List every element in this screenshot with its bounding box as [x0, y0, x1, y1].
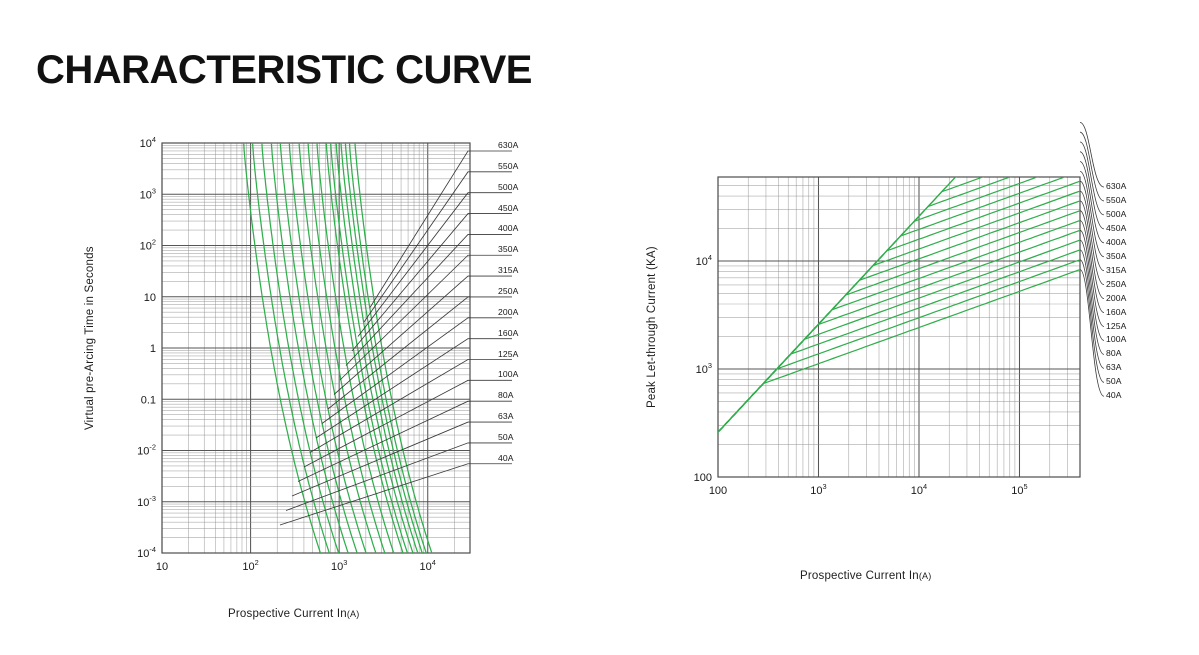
leader-line-500A [1080, 142, 1104, 215]
axis-tick-label: 100 [694, 472, 712, 484]
series-label-40A: 40A [498, 453, 514, 463]
series-label-450A: 450A [1106, 223, 1126, 233]
axis-tick-label: 0.1 [141, 394, 156, 406]
chart-peak-let-through: 104103100100103104105 Peak Let-through C… [600, 0, 1199, 655]
series-label-550A: 550A [498, 161, 518, 171]
series-label-450A: 450A [498, 203, 518, 213]
axis-tick-label: 103 [140, 186, 156, 201]
series-label-250A: 250A [498, 286, 518, 296]
series-label-400A: 400A [498, 223, 518, 233]
axis-tick-label: 105 [1011, 482, 1027, 497]
axis-tick-label: 104 [140, 135, 156, 150]
x-axis-title-right-text: Prospective Current In [800, 570, 919, 582]
series-label-500A: 500A [498, 182, 518, 192]
axis-tick-label: 104 [911, 482, 927, 497]
leader-line-550A [1080, 132, 1104, 201]
axis-tick-label: 10 [144, 292, 156, 304]
x-axis-unit-left: (A) [347, 609, 360, 619]
series-label-630A: 630A [498, 140, 518, 150]
axis-tick-label: 10-3 [137, 494, 156, 509]
series-label-160A: 160A [498, 328, 518, 338]
y-axis-title-left: Virtual pre-Arcing Time in Seconds [84, 246, 96, 430]
x-axis-title-left-text: Prospective Current In [228, 608, 347, 620]
leader-line-500A [358, 193, 512, 337]
series-label-630A: 630A [1106, 181, 1126, 191]
series-label-125A: 125A [1106, 321, 1126, 331]
series-label-550A: 550A [1106, 195, 1126, 205]
curve-160A [718, 211, 1080, 433]
curve-125A [718, 221, 1080, 433]
y-axis-title-right: Peak Let-through Current (KA) [646, 246, 658, 408]
series-label-160A: 160A [1106, 307, 1126, 317]
series-label-40A: 40A [1106, 390, 1122, 400]
axis-tick-label: 1 [150, 343, 156, 355]
axis-tick-label: 10-4 [137, 545, 156, 560]
curve-315A [718, 181, 1080, 432]
leader-line-630A [370, 151, 512, 308]
axis-tick-label: 102 [242, 558, 258, 573]
curve-63A [718, 250, 1080, 432]
series-label-125A: 125A [498, 349, 518, 359]
series-label-80A: 80A [498, 390, 514, 400]
series-label-100A: 100A [1106, 334, 1126, 344]
series-label-250A: 250A [1106, 279, 1126, 289]
series-label-50A: 50A [498, 432, 514, 442]
series-label-200A: 200A [1106, 293, 1126, 303]
chart-pre-arcing-time: 1041031021010.110-210-310-410102103104 V… [0, 0, 600, 655]
axis-tick-label: 10 [156, 561, 168, 573]
curve-400A [718, 162, 1080, 433]
curve-250A [718, 191, 1080, 432]
axis-tick-label: 102 [140, 238, 156, 253]
curve-450A [718, 152, 1080, 432]
series-label-200A: 200A [498, 307, 518, 317]
axis-tick-label: 103 [331, 558, 347, 573]
series-label-400A: 400A [1106, 237, 1126, 247]
axis-tick-label: 103 [810, 482, 826, 497]
axis-tick-label: 103 [696, 361, 712, 376]
series-label-63A: 63A [498, 411, 514, 421]
axis-tick-label: 104 [696, 253, 712, 268]
series-label-500A: 500A [1106, 209, 1126, 219]
series-label-63A: 63A [1106, 362, 1122, 372]
axis-tick-label: 104 [420, 558, 436, 573]
series-label-315A: 315A [498, 265, 518, 275]
x-axis-unit-right: (A) [919, 571, 932, 581]
series-label-80A: 80A [1106, 348, 1122, 358]
x-axis-title-right: Prospective Current In(A) [800, 570, 931, 582]
series-label-350A: 350A [498, 244, 518, 254]
series-label-350A: 350A [1106, 251, 1126, 261]
x-axis-title-left: Prospective Current In(A) [228, 608, 359, 620]
series-label-315A: 315A [1106, 265, 1126, 275]
series-label-50A: 50A [1106, 376, 1122, 386]
curve-40A [718, 270, 1080, 433]
curve-200A [718, 201, 1080, 432]
axis-tick-label: 10-2 [137, 443, 156, 458]
series-label-100A: 100A [498, 369, 518, 379]
axis-tick-label: 100 [709, 485, 727, 497]
